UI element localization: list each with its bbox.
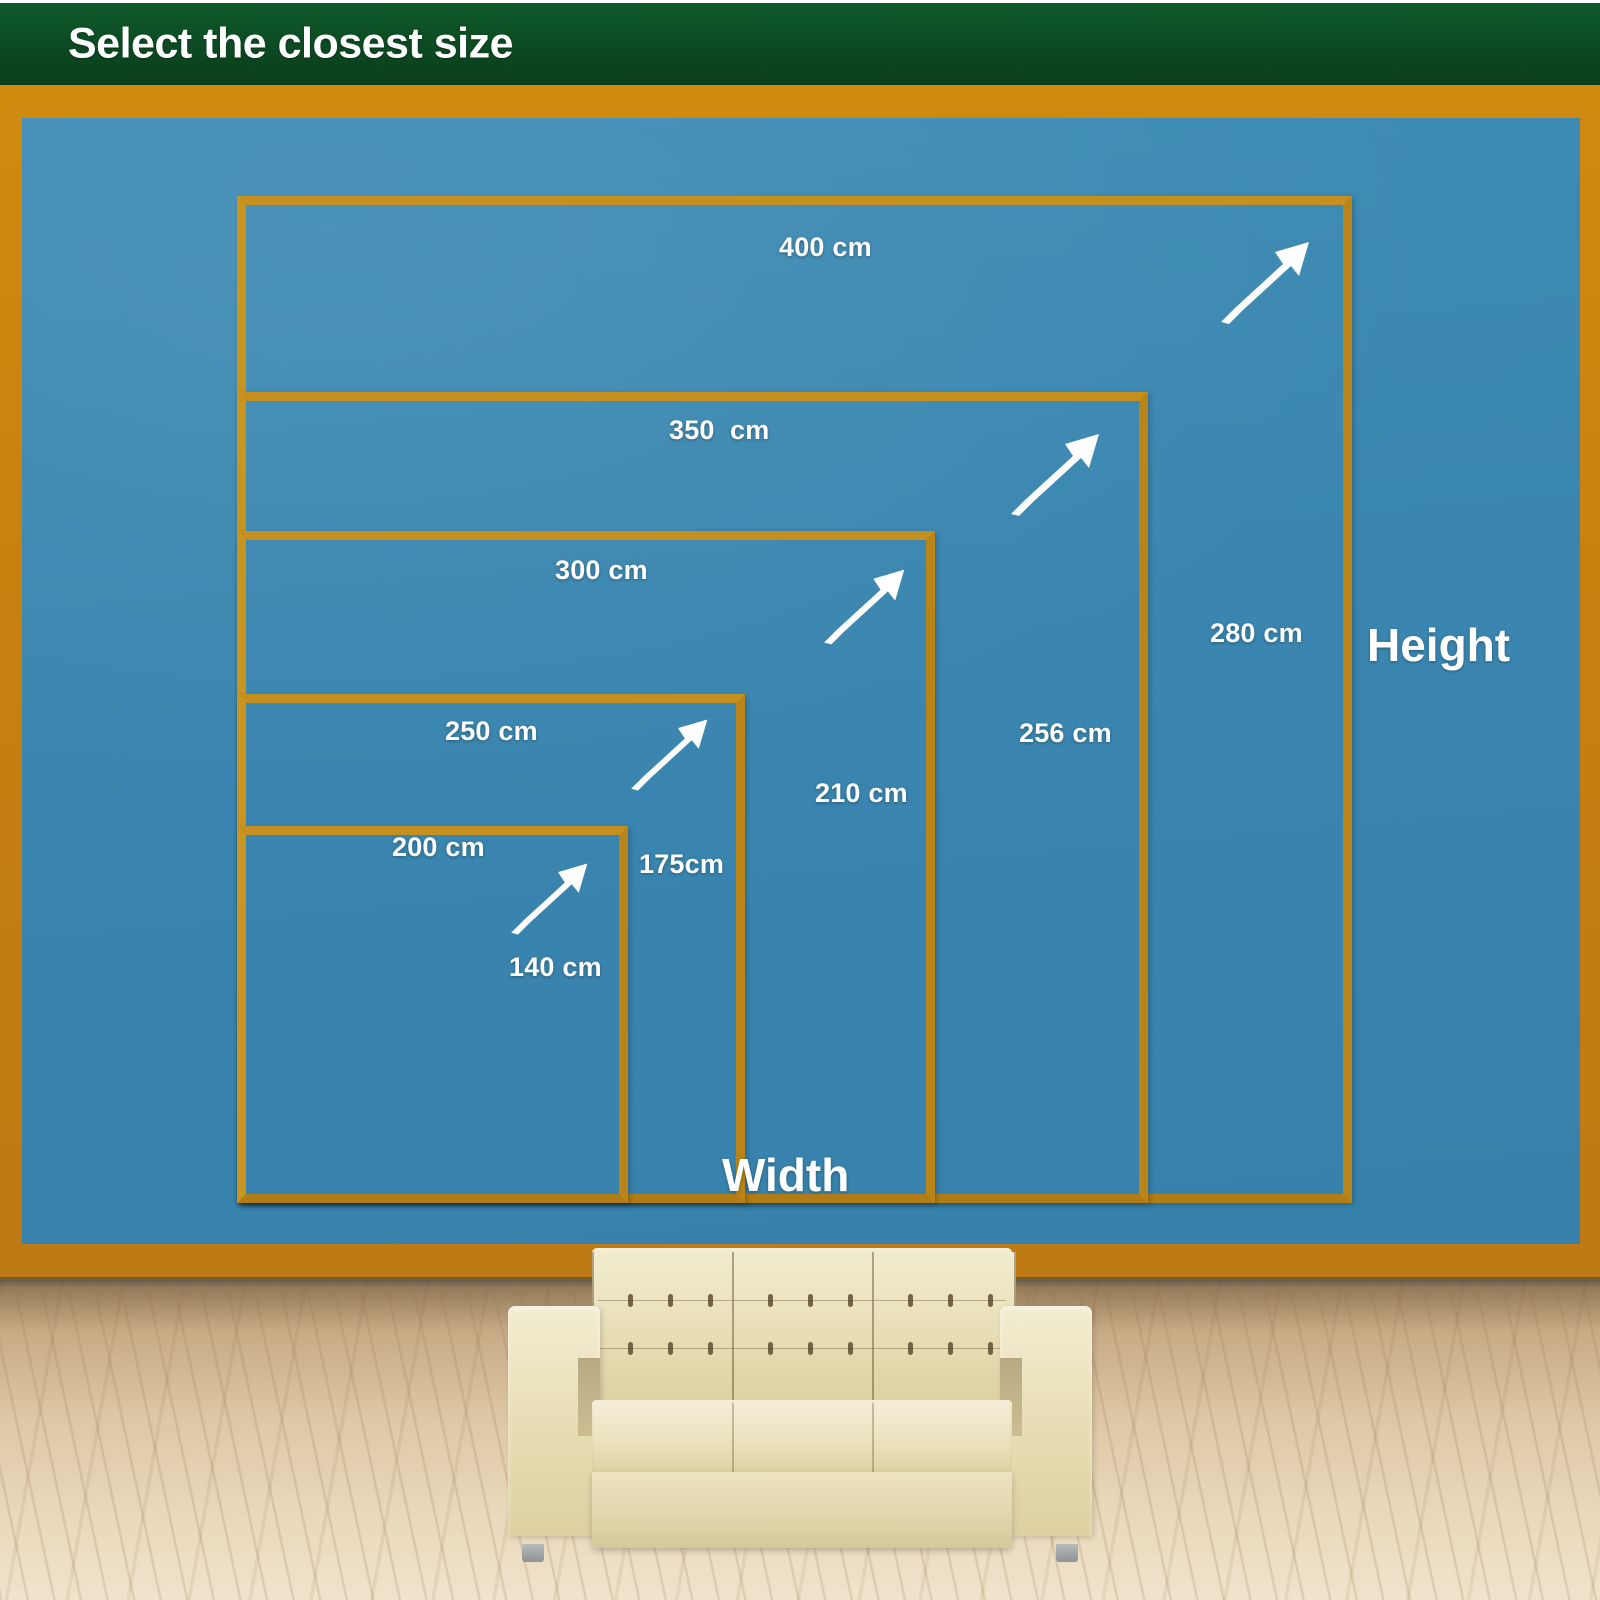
sofa-base bbox=[592, 1472, 1012, 1548]
sofa-leg-left bbox=[522, 1544, 544, 1562]
label-height-256: 256 cm bbox=[1019, 718, 1112, 749]
label-height-140: 140 cm bbox=[509, 952, 602, 983]
label-height-175: 175cm bbox=[639, 849, 724, 880]
sofa-seat-row bbox=[592, 1400, 1012, 1478]
label-width-400: 400 cm bbox=[779, 232, 872, 263]
diagonal-arrow-up-right-icon-250 bbox=[627, 716, 715, 794]
axis-title-height: Height bbox=[1367, 618, 1510, 672]
axis-title-width: Width bbox=[722, 1148, 849, 1202]
wall-frame: 400 cm 350 cm 300 cm 250 cm 200 cm 280 c… bbox=[0, 85, 1600, 1280]
diagonal-arrow-up-right-icon-350 bbox=[1007, 430, 1107, 520]
sofa-backrest bbox=[592, 1248, 1012, 1416]
sofa-arm-right bbox=[1000, 1306, 1092, 1536]
sofa-back-panel-center bbox=[732, 1252, 876, 1412]
size-selector-screen: Select the closest size 400 cm 350 cm 30… bbox=[0, 0, 1600, 1600]
label-width-250: 250 cm bbox=[445, 716, 538, 747]
label-height-210: 210 cm bbox=[815, 778, 908, 809]
blue-wall: 400 cm 350 cm 300 cm 250 cm 200 cm 280 c… bbox=[22, 118, 1580, 1244]
sofa-back-panel-left bbox=[592, 1252, 736, 1412]
sofa-cushion-right bbox=[874, 1402, 1010, 1476]
sofa-leg-right bbox=[1056, 1544, 1078, 1562]
sofa-cushion-center bbox=[734, 1402, 874, 1476]
label-height-280: 280 cm bbox=[1210, 618, 1303, 649]
sofa-cushion-left bbox=[594, 1402, 734, 1476]
header-bar: Select the closest size bbox=[0, 3, 1600, 85]
label-width-350: 350 cm bbox=[669, 415, 769, 446]
sofa-arm-left bbox=[508, 1306, 600, 1536]
label-width-200: 200 cm bbox=[392, 832, 485, 863]
sofa-back-panel-right bbox=[872, 1252, 1016, 1412]
three-seater-sofa bbox=[500, 1248, 1100, 1578]
page-title: Select the closest size bbox=[68, 20, 513, 69]
diagonal-arrow-up-right-icon-400 bbox=[1217, 238, 1317, 328]
diagonal-arrow-up-right-icon-200 bbox=[507, 860, 595, 938]
diagonal-arrow-up-right-icon-300 bbox=[820, 566, 912, 648]
label-width-300: 300 cm bbox=[555, 555, 648, 586]
